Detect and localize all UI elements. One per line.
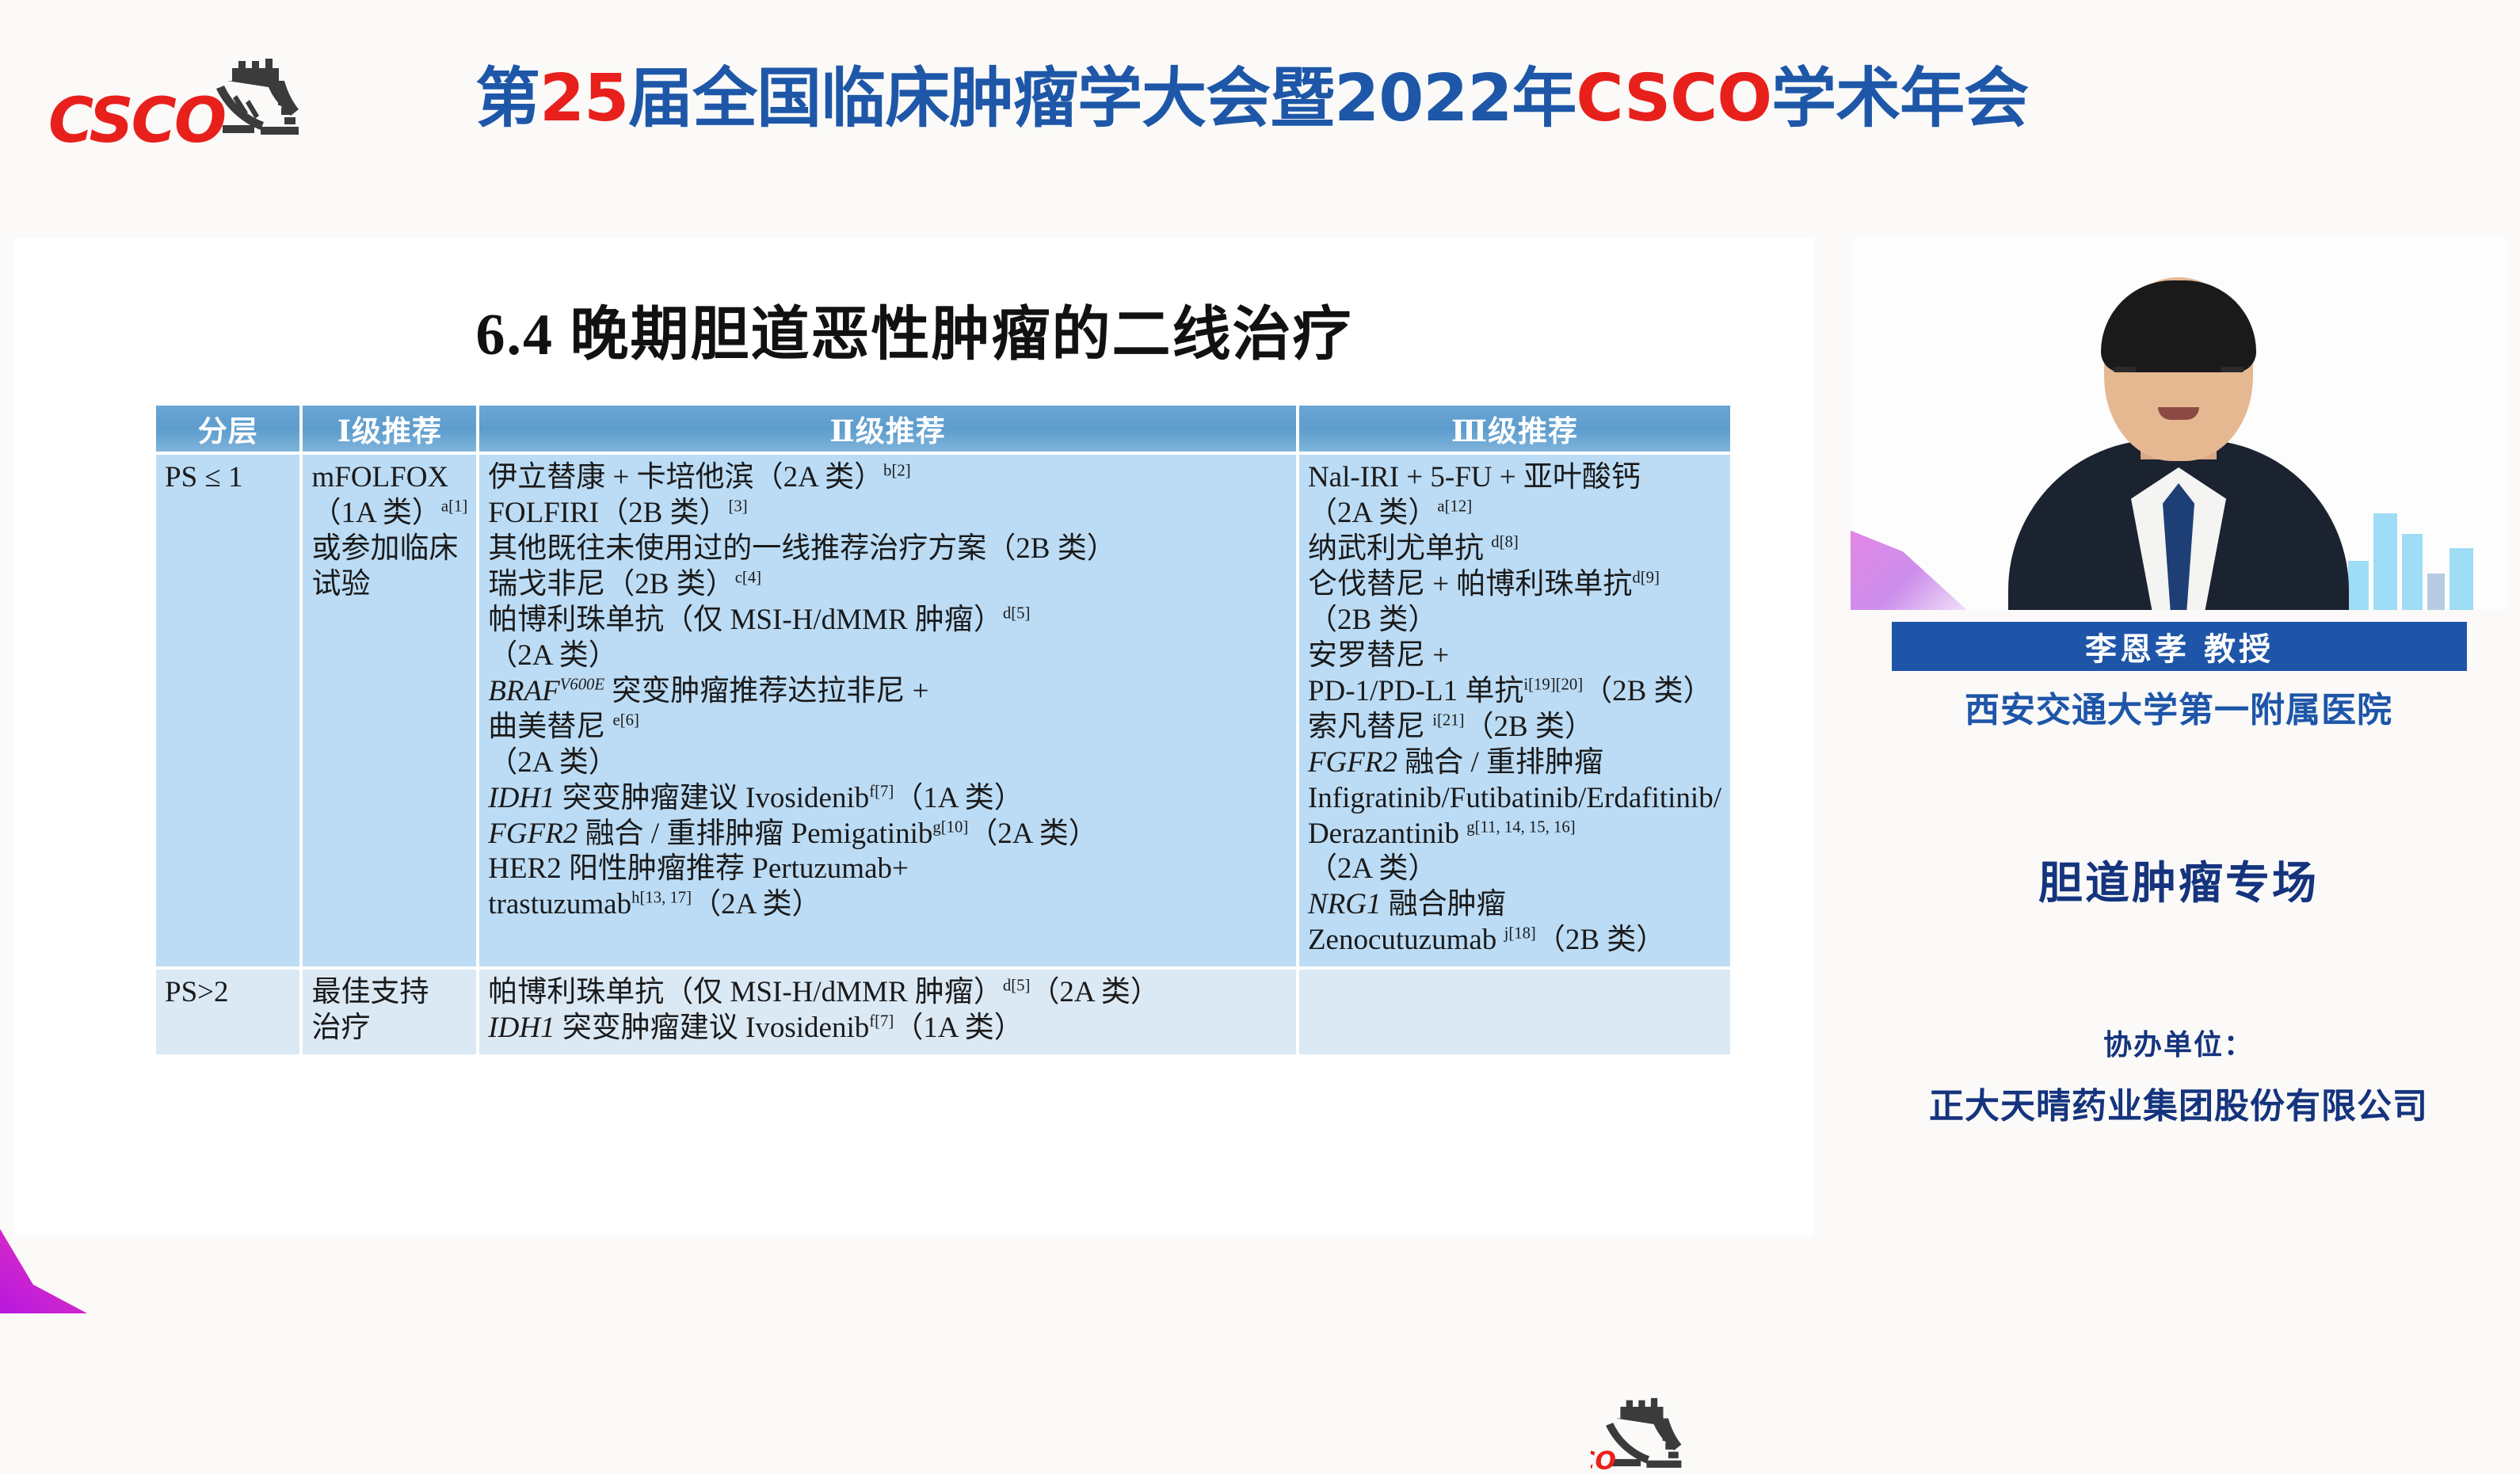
- rec-line: PD-1/PD-L1 单抗i[19][20]（2B 类）: [1308, 674, 1721, 710]
- rec-line: 曲美替尼 e[6]: [488, 710, 1287, 745]
- title-part-4: 年: [1512, 61, 1576, 136]
- cohost-label: 协办单位：: [1851, 1022, 2507, 1063]
- slide-content: 6.4 晚期胆道恶性肿瘤的二线治疗 分层 Ⅰ级推荐 Ⅱ级推荐 Ⅲ级推荐 PS ≤…: [14, 238, 1814, 1236]
- svg-text:CSCO: CSCO: [1591, 1447, 1616, 1475]
- speaker-name-badge: 李恩孝 教授: [1892, 622, 2467, 671]
- rec-line: 帕博利珠单抗（仅 MSI-H/dMMR 肿瘤）d[5]: [488, 603, 1287, 638]
- rec-line: IDH1 突变肿瘤建议 Ivosidenibf[7]（1A 类）: [488, 1011, 1287, 1046]
- rec-line: FGFR2 融合 / 重排肿瘤: [1308, 745, 1721, 781]
- rec-line: 最佳支持: [311, 975, 467, 1011]
- title-part-2: 届全国临床肿瘤学大会暨: [628, 61, 1334, 136]
- csco-logo: CSCO: [44, 38, 297, 149]
- conference-banner: CSCO 第25届全国临床肿瘤学大会暨2022年CSCO学术年会: [0, 0, 2520, 195]
- conference-title: 第25届全国临床肿瘤学大会暨2022年CSCO学术年会: [475, 55, 1838, 143]
- column-header-level3: Ⅲ级推荐: [1299, 406, 1730, 452]
- rec-line: NRG1 融合肿瘤: [1308, 887, 1721, 923]
- rec-line: trastuzumabh[13, 17]（2A 类）: [488, 887, 1287, 923]
- speaker-affiliation: 西安交通大学第一附属医院: [1851, 681, 2507, 732]
- rec-line: Infigratinib/Futibatinib/Erdafitinib/: [1308, 781, 1721, 817]
- column-header-level1: Ⅰ级推荐: [303, 406, 476, 452]
- cell-stratification: PS>2: [156, 970, 299, 1054]
- cell-level2: 帕博利珠单抗（仅 MSI-H/dMMR 肿瘤）d[5]（2A 类） IDH1 突…: [479, 970, 1296, 1054]
- rec-line: 瑞戈非尼（2B 类）c[4]: [488, 567, 1287, 603]
- presentation-stage: CSCO 第25届全国临床肿瘤学大会暨2022年CSCO学术年会 6.4 晚期胆…: [0, 0, 2520, 1313]
- rec-line: 其他既往未使用过的一线推荐治疗方案（2B 类）: [488, 532, 1287, 567]
- table-row: PS ≤ 1 mFOLFOX （1A 类）a[1] 或参加临床 试验 伊立替康 …: [156, 455, 1730, 966]
- rec-line: 安罗替尼 +: [1308, 638, 1721, 674]
- cell-level3: Nal-IRI + 5-FU + 亚叶酸钙 （2A 类）a[12] 纳武利尤单抗…: [1299, 455, 1730, 966]
- rec-line: （2A 类）a[12]: [1308, 496, 1721, 532]
- decor-skyline-bars: [2343, 483, 2486, 610]
- great-wall-icon: [208, 48, 302, 143]
- column-header-level2: Ⅱ级推荐: [479, 406, 1296, 452]
- rec-line: 试验: [311, 567, 467, 603]
- rec-line: （1A 类）a[1]: [311, 496, 467, 532]
- rec-line: 索凡替尼 i[21]（2B 类）: [1308, 710, 1721, 745]
- csco-wordmark: CSCO: [48, 90, 224, 152]
- title-part-6: 学术年会: [1771, 61, 2028, 136]
- rec-line: （2A 类）: [488, 745, 1287, 781]
- slide-title: 6.4 晚期胆道恶性肿瘤的二线治疗: [14, 287, 1814, 372]
- table-row: PS>2 最佳支持 治疗 帕博利珠单抗（仅 MSI-H/dMMR 肿瘤）d[5]…: [156, 970, 1730, 1054]
- speaker-video-feed[interactable]: [1851, 238, 2507, 610]
- speaker-figure: [1992, 293, 2365, 610]
- strat-line: PS>2: [165, 975, 291, 1011]
- session-title: 胆道肿瘤专场: [1851, 848, 2507, 912]
- rec-line: 或参加临床: [311, 532, 467, 567]
- rec-line: 帕博利珠单抗（仅 MSI-H/dMMR 肿瘤）d[5]（2A 类）: [488, 975, 1287, 1011]
- rec-line: （2B 类）: [1308, 603, 1721, 638]
- speaker-panel: 李恩孝 教授 西安交通大学第一附属医院 胆道肿瘤专场 协办单位： 正大天晴药业集…: [1851, 238, 2507, 1236]
- rec-line: BRAFV600E 突变肿瘤推荐达拉非尼 +: [488, 674, 1287, 710]
- guideline-table: 分层 Ⅰ级推荐 Ⅱ级推荐 Ⅲ级推荐 PS ≤ 1 mFOLFOX （1A 类）a…: [153, 402, 1733, 1058]
- rec-line: 纳武利尤单抗 d[8]: [1308, 532, 1721, 567]
- rec-line: （2A 类）: [1308, 852, 1721, 887]
- cell-level1: mFOLFOX （1A 类）a[1] 或参加临床 试验: [303, 455, 476, 966]
- title-part-5: CSCO: [1576, 61, 1771, 136]
- rec-line: 伊立替康 + 卡培他滨（2A 类）b[2]: [488, 460, 1287, 496]
- cell-level3: [1299, 970, 1730, 1054]
- cell-level2: 伊立替康 + 卡培他滨（2A 类）b[2] FOLFIRI（2B 类）[3] 其…: [479, 455, 1296, 966]
- table-header-row: 分层 Ⅰ级推荐 Ⅱ级推荐 Ⅲ级推荐: [156, 406, 1730, 452]
- rec-line: （2A 类）: [488, 638, 1287, 674]
- title-part-1: 25: [539, 61, 628, 136]
- strat-line: PS ≤ 1: [165, 460, 291, 496]
- rec-line: FOLFIRI（2B 类）[3]: [488, 496, 1287, 532]
- rec-line: Derazantinib g[11, 14, 15, 16]: [1308, 817, 1721, 852]
- rec-line: IDH1 突变肿瘤建议 Ivosidenibf[7]（1A 类）: [488, 781, 1287, 817]
- title-part-0: 第: [475, 61, 539, 136]
- title-part-3: 2022: [1334, 61, 1512, 136]
- rec-line: 治疗: [311, 1011, 467, 1046]
- cohost-name: 正大天晴药业集团股份有限公司: [1851, 1077, 2507, 1128]
- rec-line: Zenocutuzumab j[18]（2B 类）: [1308, 923, 1721, 959]
- column-header-stratification: 分层: [156, 406, 299, 452]
- rec-line: mFOLFOX: [311, 460, 467, 496]
- cell-stratification: PS ≤ 1: [156, 455, 299, 966]
- rec-line: HER2 阳性肿瘤推荐 Pertuzumab+: [488, 852, 1287, 887]
- cell-level1: 最佳支持 治疗: [303, 970, 476, 1054]
- csco-great-wall-watermark-icon: CSCO: [1591, 1388, 1692, 1475]
- rec-line: FGFR2 融合 / 重排肿瘤 Pemigatinibg[10]（2A 类）: [488, 817, 1287, 852]
- rec-line: 仑伐替尼 + 帕博利珠单抗d[9]: [1308, 567, 1721, 603]
- rec-line: Nal-IRI + 5-FU + 亚叶酸钙: [1308, 460, 1721, 496]
